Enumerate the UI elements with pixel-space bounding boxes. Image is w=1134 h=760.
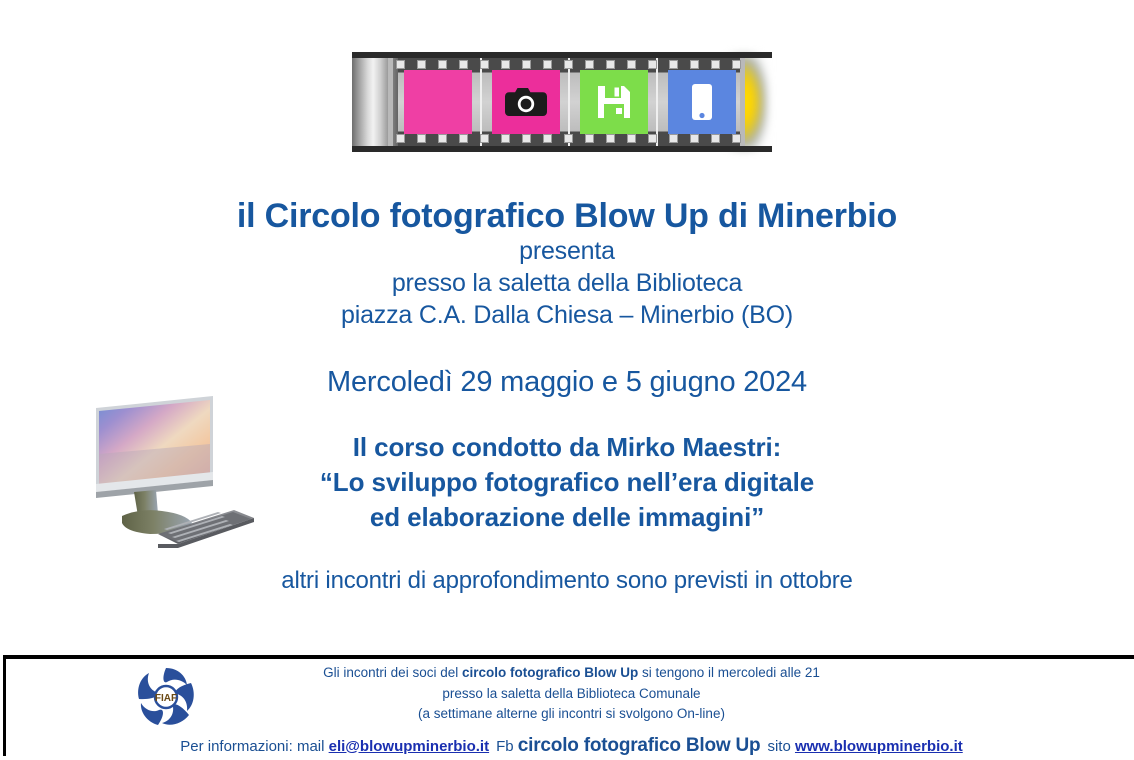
page-title: il Circolo fotografico Blow Up di Minerb… xyxy=(0,196,1134,236)
smartphone-icon xyxy=(691,83,713,121)
film-sprocket-hole xyxy=(501,134,510,143)
film-sprocket-hole xyxy=(480,60,489,69)
frame-divider xyxy=(480,58,482,146)
film-sprocket-hole xyxy=(438,134,447,143)
footer-line-2: presso la saletta della Biblioteca Comun… xyxy=(6,684,1134,705)
film-sprocket-hole xyxy=(627,134,636,143)
course-title-line-1: “Lo sviluppo fotografico nell’era digita… xyxy=(0,465,1134,500)
film-sprocket-hole xyxy=(690,60,699,69)
film-sprocket-hole xyxy=(648,60,657,69)
film-sprocket-hole xyxy=(669,134,678,143)
frame-divider xyxy=(656,58,658,146)
film-sprocket-hole xyxy=(585,134,594,143)
film-frame-blank xyxy=(404,70,472,134)
film-sprocket-hole xyxy=(501,60,510,69)
film-sprocket-hole xyxy=(606,134,615,143)
film-sprocket-hole xyxy=(543,60,552,69)
film-sprocket-hole xyxy=(459,60,468,69)
film-edge-bottom xyxy=(352,146,772,152)
website-link[interactable]: www.blowupminerbio.it xyxy=(795,738,963,755)
film-sprocket-hole xyxy=(564,134,573,143)
footer-line-1-pre: Gli incontri dei soci del xyxy=(323,665,462,680)
film-sprocket-hole xyxy=(522,134,531,143)
film-sprocket-hole xyxy=(627,60,636,69)
film-sprocket-hole xyxy=(417,134,426,143)
film-sprocket-hole xyxy=(564,60,573,69)
facebook-label: Fb xyxy=(496,738,518,755)
additional-note: altri incontri di approfondimento sono p… xyxy=(0,567,1134,595)
film-edge-top xyxy=(352,52,772,58)
film-sprocket-hole xyxy=(711,60,720,69)
frame-divider xyxy=(568,58,570,146)
film-sprocket-hole xyxy=(648,134,657,143)
footer-line-1: Gli incontri dei soci del circolo fotogr… xyxy=(6,663,1134,684)
film-frame-phone xyxy=(668,70,736,134)
film-sprocket-hole xyxy=(690,134,699,143)
film-sprocket-hole xyxy=(732,60,741,69)
film-sprocket-hole xyxy=(711,134,720,143)
poster-main-text: il Circolo fotografico Blow Up di Minerb… xyxy=(0,196,1134,595)
film-sprocket-hole xyxy=(396,60,405,69)
venue-line-2: piazza C.A. Dalla Chiesa – Minerbio (BO) xyxy=(0,300,1134,332)
presenta-label: presenta xyxy=(0,236,1134,268)
film-sprocket-hole xyxy=(459,134,468,143)
floppy-disk-icon xyxy=(596,84,632,120)
filmstrip-graphic xyxy=(352,48,782,156)
footer-text-block: Gli incontri dei soci del circolo fotogr… xyxy=(6,659,1134,760)
website-label: sito xyxy=(767,738,795,755)
film-sprocket-hole xyxy=(417,60,426,69)
film-sprocket-hole xyxy=(522,60,531,69)
footer-box: FIAF Gli incontri dei soci del circolo f… xyxy=(3,655,1134,756)
course-title-line-2: ed elaborazione delle immagini” xyxy=(0,500,1134,535)
film-sprocket-hole xyxy=(585,60,594,69)
film-frame-camera xyxy=(492,70,560,134)
film-sprocket-hole xyxy=(438,60,447,69)
camera-icon xyxy=(503,85,549,119)
film-sprocket-hole xyxy=(543,134,552,143)
film-frame-floppy xyxy=(580,70,648,134)
venue-line-1: presso la saletta della Biblioteca xyxy=(0,268,1134,300)
film-sprocket-hole xyxy=(480,134,489,143)
film-endbar-left xyxy=(388,52,393,152)
footer-line-1-post: si tengono il mercoledi alle 21 xyxy=(638,665,820,680)
footer-line-3: (a settimane alterne gli incontri si svo… xyxy=(6,704,1134,725)
footer-line-1-bold: circolo fotografico Blow Up xyxy=(462,665,638,680)
film-sprocket-hole xyxy=(606,60,615,69)
facebook-page-name: circolo fotografico Blow Up xyxy=(518,735,761,756)
film-sprocket-hole xyxy=(396,134,405,143)
film-sprocket-hole xyxy=(732,134,741,143)
film-sprocket-hole xyxy=(669,60,678,69)
contact-prefix: Per informazioni: mail xyxy=(180,738,328,755)
email-link[interactable]: eli@blowupminerbio.it xyxy=(329,738,489,755)
event-date: Mercoledì 29 maggio e 5 giugno 2024 xyxy=(0,365,1134,400)
course-heading: Il corso condotto da Mirko Maestri: xyxy=(0,430,1134,465)
